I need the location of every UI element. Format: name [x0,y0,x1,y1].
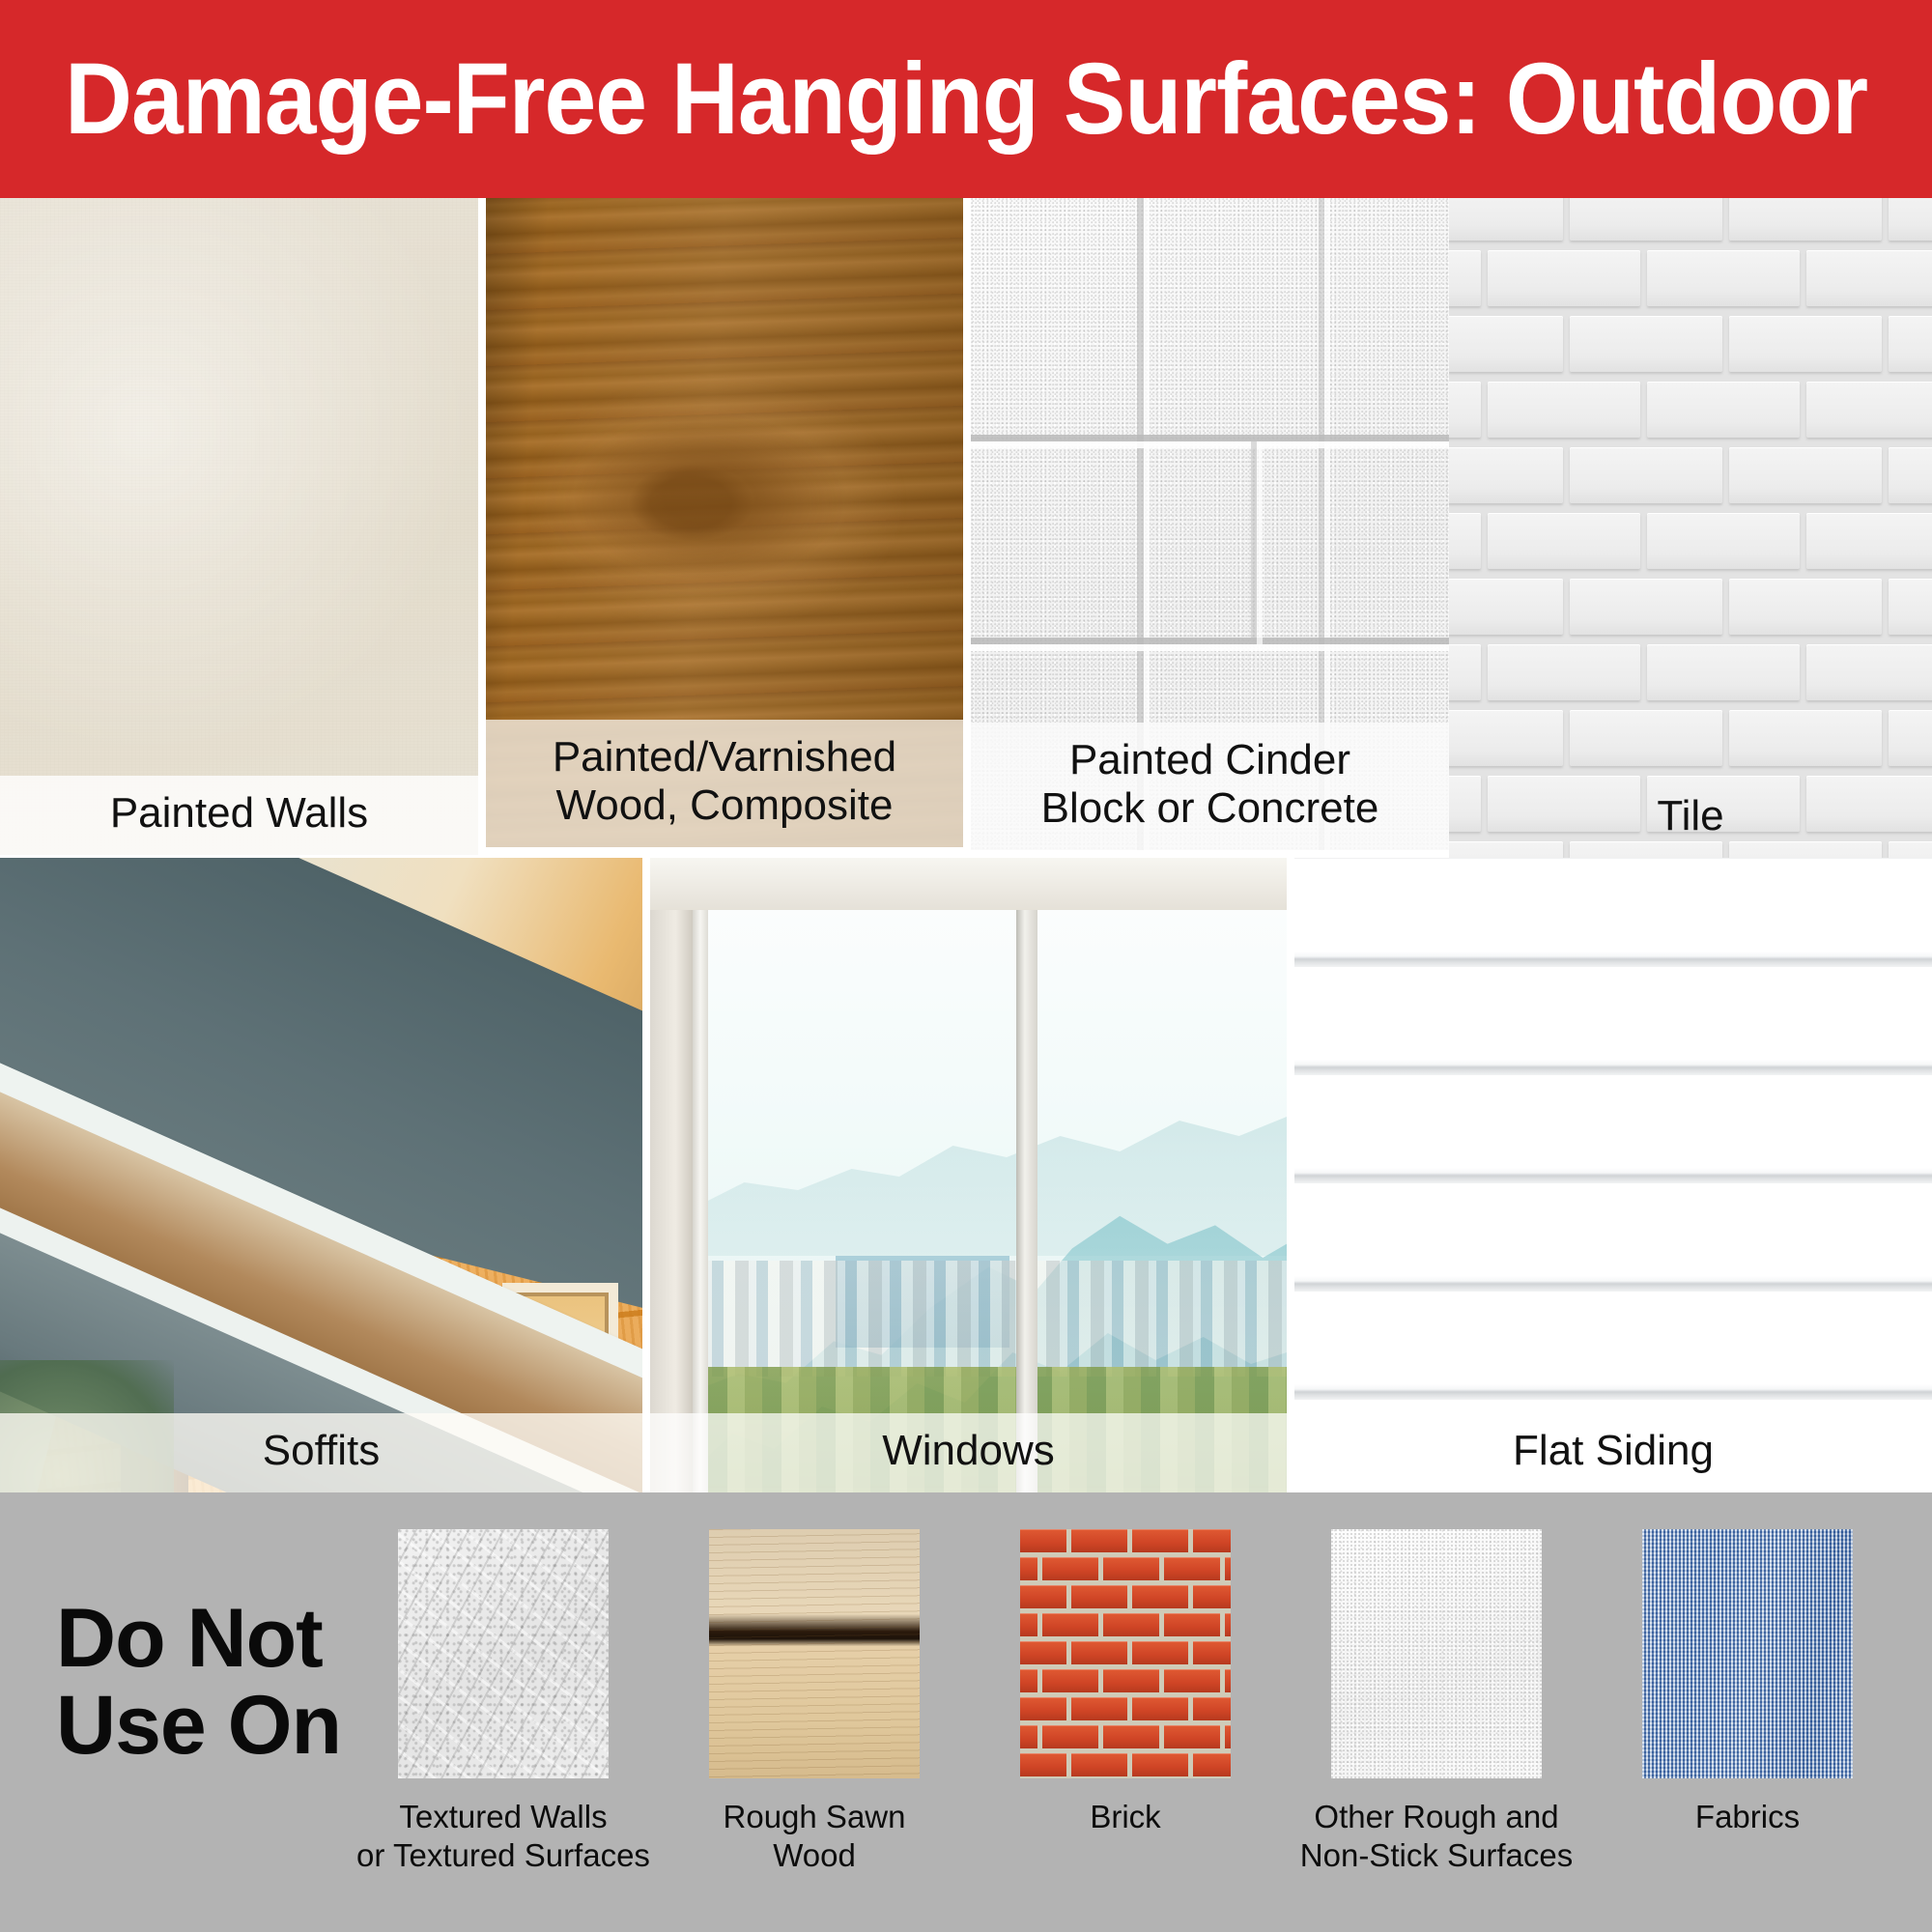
subway-tile [1889,710,1932,766]
rough-sawn-wood-texture [709,1529,920,1778]
do-not-use-label-textured-walls: Textured Walls or Textured Surfaces [356,1798,650,1874]
subway-tile [1570,710,1722,766]
window-header-trim [650,858,1287,910]
do-not-use-item-rough-sawn-wood[interactable]: Rough Sawn Wood [659,1529,970,1874]
rough-sawn-wood-thumbnail [709,1529,920,1778]
subway-tile [1806,513,1932,569]
brick-thumbnail [1020,1529,1231,1778]
cinder-block-mortar-joints-secondary [971,441,1449,644]
subway-tile [1488,382,1640,438]
subway-tile [1449,710,1563,766]
subway-tile [1449,644,1481,700]
do-not-use-label-line-2: or Textured Surfaces [356,1836,650,1875]
do-not-use-label-other-rough: Other Rough and Non-Stick Surfaces [1300,1798,1573,1874]
brick-unit [1020,1753,1066,1776]
subway-tile [1449,382,1481,438]
do-not-use-label-line-2: Non-Stick Surfaces [1300,1836,1573,1875]
surface-label-flat-siding: Flat Siding [1294,1413,1932,1492]
subway-tile [1449,579,1563,635]
brick-unit [1020,1641,1066,1664]
brick-unit [1103,1613,1159,1636]
subway-tile [1729,198,1882,241]
do-not-use-heading-line-1: Do Not [56,1595,365,1682]
surface-card-flat-siding[interactable]: Flat Siding [1294,858,1932,1492]
brick-unit [1193,1641,1231,1664]
subway-tile [1449,198,1563,241]
subway-tile [1806,382,1932,438]
window-mullion [1016,908,1037,1492]
brick-unit [1071,1585,1127,1608]
do-not-use-label-line-1: Other Rough and [1300,1798,1573,1836]
textured-wall-texture [398,1529,609,1778]
brick-unit [1042,1613,1098,1636]
window-glass-pane [691,908,1287,1492]
do-not-use-label-rough-sawn-wood: Rough Sawn Wood [724,1798,906,1874]
brick-unit [1193,1529,1231,1552]
surface-label-tile: Tile [1449,779,1932,858]
brick-unit [1020,1557,1037,1580]
subway-tile [1570,579,1722,635]
red-brick-texture [1020,1529,1231,1778]
brick-unit [1164,1613,1220,1636]
subway-tile [1570,316,1722,372]
surface-card-soffits[interactable]: Soffits [0,858,642,1492]
surface-card-tile[interactable]: Tile [1449,198,1932,858]
surface-card-painted-varnished-wood[interactable]: Painted/Varnished Wood, Composite [486,198,963,847]
subway-tile [1449,250,1481,306]
do-not-use-label-fabrics: Fabrics [1695,1798,1800,1836]
brick-unit [1132,1641,1188,1664]
brick-unit [1071,1641,1127,1664]
brick-unit [1020,1585,1066,1608]
subway-tile [1889,447,1932,503]
infographic-board: Damage-Free Hanging Surfaces: Outdoor Pa… [0,0,1932,1932]
subway-tile [1449,447,1563,503]
surface-card-painted-walls[interactable]: Painted Walls [0,198,478,855]
brick-unit [1225,1725,1231,1748]
brick-unit [1020,1669,1037,1692]
flat-siding-texture [1294,858,1932,1492]
do-not-use-item-textured-walls[interactable]: Textured Walls or Textured Surfaces [348,1529,659,1874]
surface-label-painted-varnished-wood: Painted/Varnished Wood, Composite [486,720,963,847]
surface-label-line-1: Painted/Varnished [496,733,953,781]
rough-stucco-thumbnail [1331,1529,1542,1778]
subway-tile [1889,579,1932,635]
do-not-use-heading-line-2: Use On [56,1682,365,1769]
brick-unit [1193,1697,1231,1720]
surface-card-windows[interactable]: Windows [650,858,1287,1492]
subway-tile [1647,644,1800,700]
brick-unit [1071,1753,1127,1776]
surface-label-windows: Windows [650,1413,1287,1492]
subway-tile [1570,447,1722,503]
do-not-use-item-fabrics[interactable]: Fabrics [1592,1529,1903,1836]
header-banner: Damage-Free Hanging Surfaces: Outdoor [0,0,1932,198]
window-jamb [650,858,693,1492]
denim-fabric-thumbnail [1642,1529,1853,1778]
brick-unit [1225,1669,1231,1692]
brick-unit [1103,1669,1159,1692]
subway-tile [1889,316,1932,372]
brick-unit [1164,1725,1220,1748]
brick-unit [1103,1725,1159,1748]
subway-tile [1449,316,1563,372]
brick-unit [1020,1725,1037,1748]
brick-unit [1020,1529,1066,1552]
brick-unit [1225,1613,1231,1636]
brick-unit [1071,1697,1127,1720]
do-not-use-list: Textured Walls or Textured Surfaces Roug… [348,1529,1903,1916]
window-frame-left [691,908,708,1492]
do-not-use-label-brick: Brick [1090,1798,1160,1836]
brick-unit [1020,1697,1066,1720]
brick-unit [1164,1557,1220,1580]
brick-unit [1103,1557,1159,1580]
subway-tile [1647,250,1800,306]
brick-unit [1193,1753,1231,1776]
brick-unit [1164,1669,1220,1692]
denim-fabric-texture [1642,1529,1853,1778]
do-not-use-item-brick[interactable]: Brick [970,1529,1281,1836]
subway-tile [1889,198,1932,241]
surface-label-line-2: Wood, Composite [496,781,953,830]
brick-unit [1225,1557,1231,1580]
brick-unit [1132,1585,1188,1608]
subway-tile [1488,250,1640,306]
brick-unit [1132,1753,1188,1776]
surface-label-soffits: Soffits [0,1413,642,1492]
wood-grain-swirl-inner [572,412,849,582]
subway-tile [1729,316,1882,372]
subway-tile [1729,710,1882,766]
subway-tile [1488,644,1640,700]
do-not-use-label-line-1: Fabrics [1695,1798,1800,1836]
brick-unit [1042,1669,1098,1692]
brick-unit [1132,1529,1188,1552]
do-not-use-section: Do Not Use On Textured Walls or Textured… [0,1492,1932,1932]
brick-unit [1042,1725,1098,1748]
do-not-use-label-line-1: Brick [1090,1798,1160,1836]
textured-wall-thumbnail [398,1529,609,1778]
city-skyline [691,1261,1287,1377]
subway-tile [1806,644,1932,700]
subway-tile [1729,579,1882,635]
subway-tile [1488,513,1640,569]
do-not-use-item-other-rough[interactable]: Other Rough and Non-Stick Surfaces [1281,1529,1592,1874]
surface-label-painted-cinder-block: Painted Cinder Block or Concrete [971,723,1449,850]
rough-stucco-texture [1331,1529,1542,1778]
mountain-range-far [691,1063,1287,1256]
brick-unit [1132,1697,1188,1720]
surface-label-line-2: Block or Concrete [980,784,1439,833]
subway-tile [1729,447,1882,503]
surface-label-painted-walls: Painted Walls [0,776,478,855]
do-not-use-label-line-2: Wood [724,1836,906,1875]
brick-unit [1042,1557,1098,1580]
subway-tile [1647,513,1800,569]
do-not-use-heading: Do Not Use On [56,1595,365,1770]
do-not-use-label-line-1: Rough Sawn [724,1798,906,1836]
brick-unit [1071,1529,1127,1552]
subway-tile [1806,250,1932,306]
surface-card-painted-cinder-block[interactable]: Painted Cinder Block or Concrete [971,198,1449,850]
page-title: Damage-Free Hanging Surfaces: Outdoor [65,48,1867,150]
brick-unit [1020,1613,1037,1636]
subway-tile [1647,382,1800,438]
subway-tile [1570,198,1722,241]
subway-tile [1449,513,1481,569]
brick-unit [1193,1585,1231,1608]
do-not-use-label-line-1: Textured Walls [356,1798,650,1836]
painted-wall-grain-overlay [0,198,478,855]
surface-label-line-1: Painted Cinder [980,736,1439,784]
